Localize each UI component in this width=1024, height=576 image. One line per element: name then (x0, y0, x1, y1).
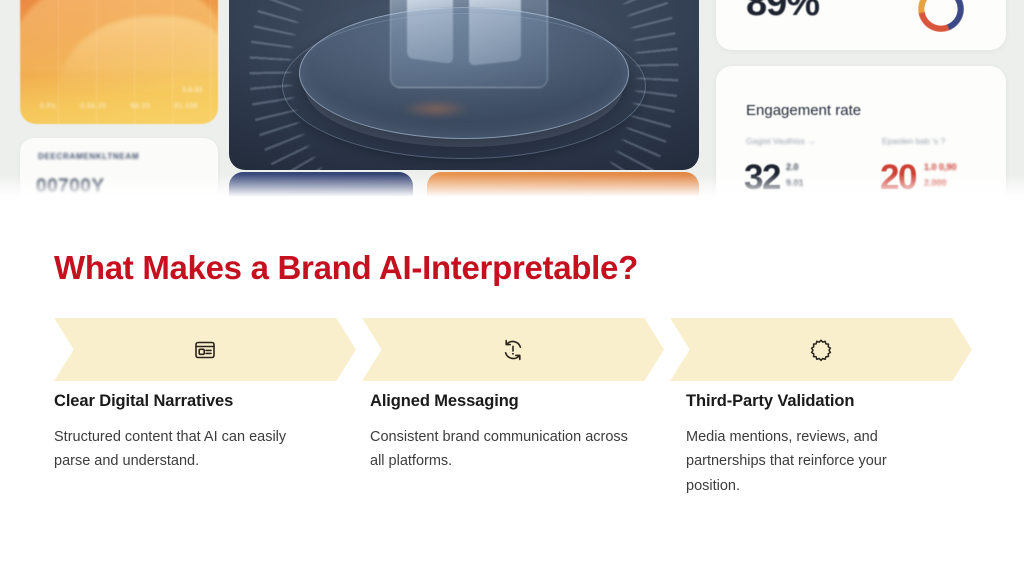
render-platform (299, 7, 629, 139)
step-card-1: Clear Digital Narratives Structured cont… (54, 392, 360, 498)
page-title: What Makes a Brand AI-Interpretable? (54, 250, 638, 286)
hero-engagement-sub-left: Gagist Vauthiss → (746, 136, 816, 146)
main-content: What Makes a Brand AI-Interpretable? (0, 200, 1024, 576)
hero-stat-percent: 89% (746, 0, 819, 25)
chart-tick: 68.33 (130, 103, 150, 110)
step-card-1-description: Structured content that AI can easily pa… (54, 425, 322, 474)
chart-tick: 0.56.20 (80, 103, 106, 110)
step-card-2: Aligned Messaging Consistent brand commu… (370, 392, 676, 498)
hero-area-chart-card: 0.6.33 0.Po 0.56.20 68.33 81.338 (20, 0, 218, 124)
hero-bottom-fade (0, 174, 1024, 200)
step-chevron-2[interactable] (362, 318, 664, 381)
chart-tick: 81.338 (174, 103, 198, 110)
hero-decorative-image: 0.6.33 0.Po 0.56.20 68.33 81.338 DEECRAM… (0, 0, 1024, 200)
steps-cards-row: Clear Digital Narratives Structured cont… (54, 392, 1014, 498)
card-window-icon (193, 338, 217, 362)
page-root: 0.6.33 0.Po 0.56.20 68.33 81.338 DEECRAM… (0, 0, 1024, 576)
step-chevron-1[interactable] (54, 318, 356, 381)
sync-alert-icon (501, 338, 525, 362)
hero-engagement-small-left-1: 2.0 (786, 162, 799, 172)
step-card-1-title: Clear Digital Narratives (54, 392, 360, 411)
hero-engagement-sub-right: Epaolen bab 's ? (882, 136, 945, 146)
donut-chart-icon (918, 0, 964, 32)
step-card-2-title: Aligned Messaging (370, 392, 676, 411)
hero-stat-card-top: 89% (716, 0, 1006, 50)
step-card-3: Third-Party Validation Media mentions, r… (686, 392, 992, 498)
step-chevron-3[interactable] (670, 318, 972, 381)
chart-tick-high: 0.6.33 (183, 87, 202, 94)
steps-chevron-row (54, 318, 972, 381)
chart-tick-labels: 0.Po 0.56.20 68.33 81.338 (28, 103, 210, 110)
step-card-2-description: Consistent brand communication across al… (370, 425, 638, 474)
step-card-3-title: Third-Party Validation (686, 392, 992, 411)
render-warm-glow (401, 102, 471, 116)
chart-tick: 0.Po (40, 103, 56, 110)
hero-engagement-small-right-1: 1.0 0,90 (924, 162, 957, 172)
hero-metric-label: DEECRAMENKLTNEAM (38, 152, 139, 161)
hero-engagement-title: Engagement rate (746, 102, 861, 119)
hero-3d-render (229, 0, 699, 170)
badge-seal-icon (809, 338, 833, 362)
step-card-3-description: Media mentions, reviews, and partnership… (686, 425, 918, 498)
